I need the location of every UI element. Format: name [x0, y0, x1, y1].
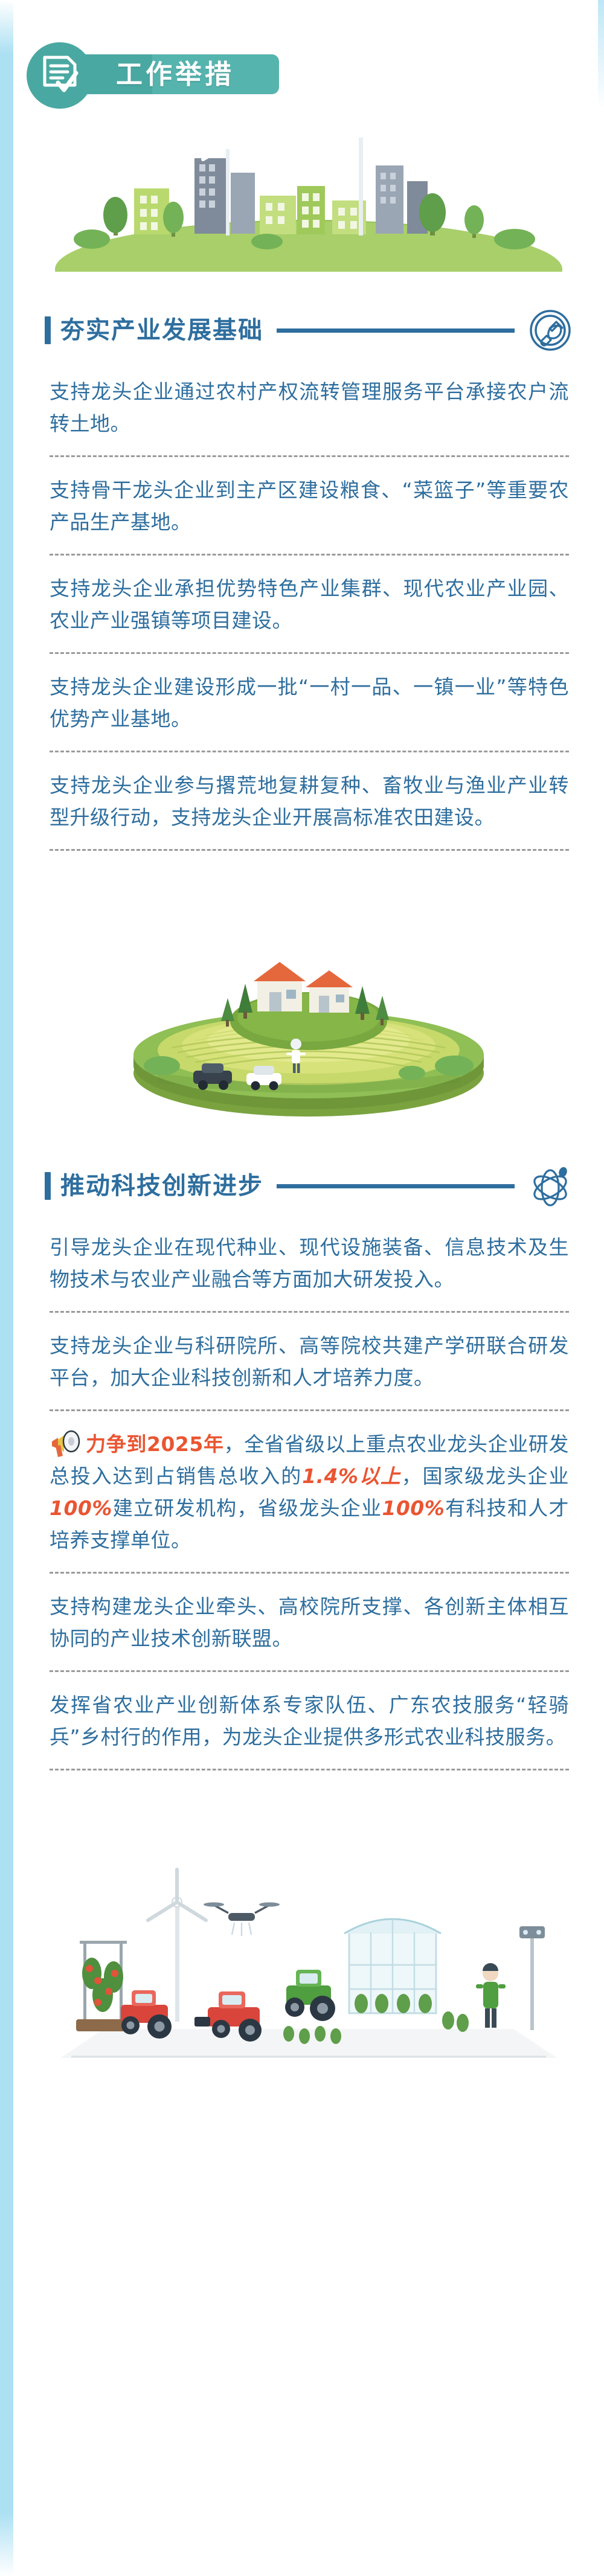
paragraph-divider — [50, 849, 569, 851]
accent-target-year: 力争到2025年 — [86, 1432, 224, 1456]
page-content: 工作举措 — [13, 29, 604, 2100]
paragraph: 支持龙头企业参与撂荒地复耕复种、畜牧业与渔业产业转型升级行动，支持龙头企业开展高… — [50, 767, 569, 835]
atom-icon — [528, 1164, 573, 1208]
paragraph-divider — [50, 1409, 569, 1411]
section-header-tech-innovation: 推动科技创新进步 — [45, 1164, 604, 1208]
paragraph: 支持构建龙头企业牵头、高校院所支撑、各创新主体相互协同的产业技术创新联盟。 — [50, 1588, 569, 1656]
paragraph-divider — [50, 1769, 569, 1770]
paragraph: 支持龙头企业承担优势特色产业集群、现代农业产业园、农业产业强镇等项目建设。 — [50, 570, 569, 638]
megaphone-icon — [50, 1428, 85, 1458]
header-banner: 工作举措 — [13, 29, 604, 120]
paragraph: 支持骨干龙头企业到主产区建设粮食、“菜篮子”等重要农产品生产基地。 — [50, 472, 569, 539]
section-1-paragraph-list: 支持龙头企业通过农村产权流转管理服务平台承接农户流转土地。 支持骨干龙头企业到主… — [50, 373, 569, 851]
paragraph: 发挥省农业产业创新体系专家队伍、广东农技服务“轻骑兵”乡村行的作用，为龙头企业提… — [50, 1687, 569, 1754]
wrench-gear-icon — [528, 308, 573, 353]
terraced-farm-illustration — [13, 874, 604, 1127]
infographic-page: 工作举措 — [0, 0, 604, 2576]
paragraph-divider — [50, 751, 569, 752]
section-title: 推动科技创新进步 — [60, 1172, 263, 1200]
left-rail-top-fade — [0, 0, 13, 72]
section-header-industry-foundation: 夯实产业发展基础 — [45, 308, 604, 353]
paragraph-divider — [50, 652, 569, 654]
section-tick-marker — [45, 316, 51, 344]
paragraph-text: ，国家级龙头企业 — [402, 1464, 569, 1488]
paragraph: 支持龙头企业建设形成一批“一村一品、一镇一业”等特色优势产业基地。 — [50, 668, 569, 736]
paragraph: 支持龙头企业与科研院所、高等院校共建产学研联合研发平台，加大企业科技创新和人才培… — [50, 1327, 569, 1395]
page-title: 工作举措 — [116, 59, 234, 91]
section-rule — [277, 328, 515, 333]
paragraph-divider — [50, 1670, 569, 1672]
section-title: 夯实产业发展基础 — [60, 316, 263, 344]
paragraph-divider — [50, 1311, 569, 1313]
accent-national-pct: 100% — [50, 1496, 112, 1520]
paragraph-highlight-target-2025: 力争到2025年，全省省级以上重点农业龙头企业研发总投入达到占销售总收入的1.4… — [50, 1426, 569, 1557]
paragraph-divider — [50, 1572, 569, 1574]
paragraph: 引导龙头企业在现代种业、现代设施装备、信息技术及生物技术与农业产业融合等方面加大… — [50, 1229, 569, 1296]
accent-rd-ratio: 1.4%以上 — [302, 1464, 402, 1488]
left-decorative-rail — [0, 0, 13, 2576]
paragraph-divider — [50, 554, 569, 556]
left-rail-bottom-fade — [0, 2491, 13, 2576]
paragraph-text: 建立研发机构，省级龙头企业 — [112, 1496, 382, 1520]
section-2-paragraph-list: 引导龙头企业在现代种业、现代设施装备、信息技术及生物技术与农业产业融合等方面加大… — [50, 1229, 569, 1770]
paragraph: 支持龙头企业通过农村产权流转管理服务平台承接农户流转土地。 — [50, 373, 569, 441]
section-tick-marker — [45, 1172, 51, 1200]
accent-provincial-pct: 100% — [382, 1496, 445, 1520]
paragraph-divider — [50, 455, 569, 457]
smart-agriculture-illustration — [13, 1792, 604, 2076]
section-rule — [277, 1184, 515, 1188]
city-wind-turbine-illustration — [13, 121, 604, 272]
document-check-icon — [27, 42, 93, 109]
